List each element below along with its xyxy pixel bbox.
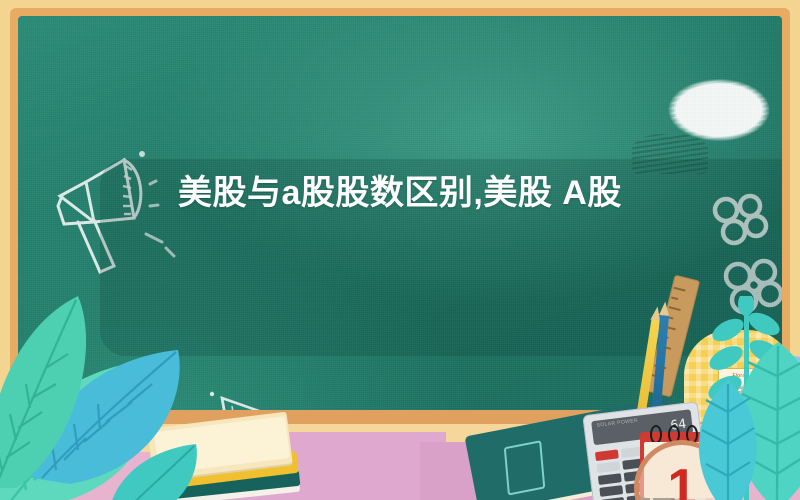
page-title: 美股与a股股数区别,美股 A股	[178, 172, 778, 216]
calculator-display-label: SOLAR POWER	[596, 418, 638, 429]
leaf-icon	[0, 292, 112, 492]
leaf-icon	[104, 436, 214, 500]
cover-image: 美股与a股股数区别,美股 A股 Flora Sakura	[0, 0, 800, 500]
scribble-shadow	[632, 134, 708, 174]
leaf-icon	[684, 372, 776, 500]
scribble-cloud-icon	[650, 64, 782, 156]
book-emblem	[504, 440, 546, 495]
